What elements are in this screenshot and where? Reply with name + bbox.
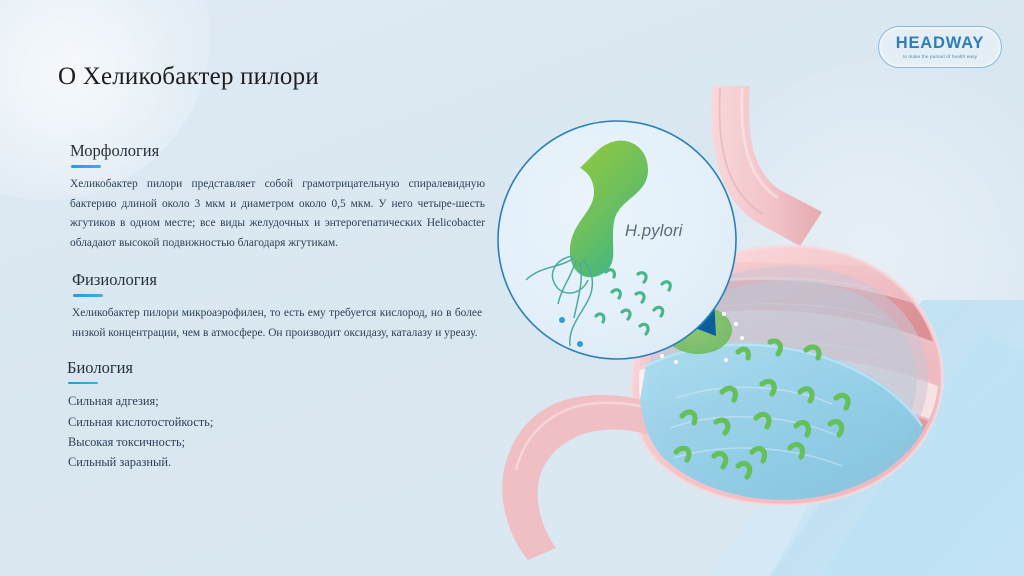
heading-underline-morphology — [71, 165, 101, 168]
headway-logo[interactable]: HEADWAY to make the pursuit of health ea… — [878, 26, 1002, 68]
list-item: Сильный заразный. — [68, 452, 482, 472]
section-physiology: Физиология Хеликобактер пилори микроаэро… — [62, 271, 482, 343]
duodenum-shape — [502, 395, 660, 560]
logo-wordmark: HEADWAY — [896, 35, 984, 52]
list-item: Высокая токсичность; — [68, 432, 482, 452]
list-item: Сильная кислотостойкость; — [68, 412, 482, 432]
heading-underline-biology — [68, 382, 98, 385]
page-title: О Хеликобактер пилори — [58, 63, 319, 91]
heading-underline-physiology — [73, 294, 103, 297]
illustration-stomach-helicobacter: H.pylori — [470, 0, 1024, 576]
section-heading-biology: Биология — [67, 359, 482, 378]
section-heading-morphology: Морфология — [70, 142, 482, 161]
section-morphology: Морфология Хеликобактер пилори представл… — [62, 142, 482, 254]
content-column: Морфология Хеликобактер пилори представл… — [62, 142, 482, 476]
logo-tagline: to make the pursuit of health easy — [903, 54, 977, 59]
section-heading-physiology: Физиология — [72, 271, 482, 290]
list-item: Сильная адгезия; — [68, 391, 482, 411]
section-paragraph-morphology: Хеликобактер пилори представляет собой г… — [70, 175, 485, 255]
section-biology: Биология Сильная адгезия; Сильная кислот… — [62, 359, 482, 472]
slide-canvas: H.pylori HEADWAY to make the pursuit of … — [0, 0, 1024, 576]
section-paragraph-physiology: Хеликобактер пилори микроаэрофилен, то е… — [72, 304, 482, 344]
magnifier-label-hpylori: H.pylori — [625, 222, 683, 241]
magnifier-circle-icon — [498, 121, 736, 359]
biology-list: Сильная адгезия; Сильная кислотостойкост… — [68, 391, 482, 471]
